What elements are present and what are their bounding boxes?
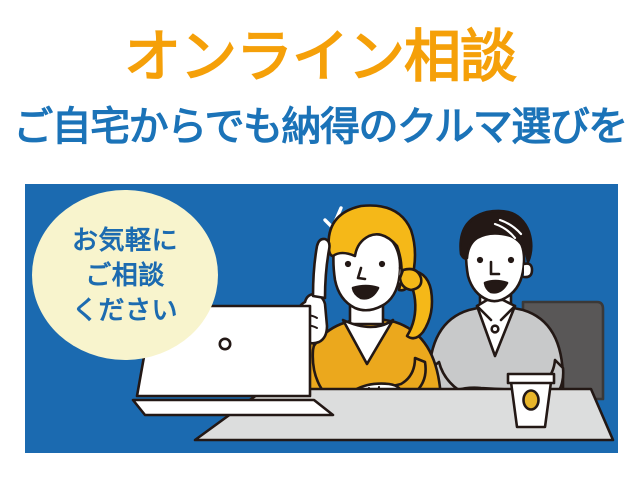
woman-figure xyxy=(296,206,441,411)
man-eye-left xyxy=(477,257,483,263)
cup-logo xyxy=(524,391,539,410)
coffee-cup xyxy=(508,374,554,427)
woman-eye-right xyxy=(379,261,385,267)
man-shirt-button xyxy=(492,326,499,333)
man-ear xyxy=(524,264,532,278)
woman-hair-tie xyxy=(400,269,421,290)
banner-root: オンライン相談 ご自宅からでも納得のクルマ選びを xyxy=(0,0,640,480)
badge-line-2: ご相談 xyxy=(85,258,165,292)
woman-index-finger xyxy=(313,239,330,298)
cup-lid xyxy=(508,374,554,383)
illustration-panel: お気軽に ご相談 ください xyxy=(25,184,618,453)
page-subtitle: ご自宅からでも納得のクルマ選びを xyxy=(0,104,640,150)
man-eye-right xyxy=(508,257,514,263)
consultation-badge[interactable]: お気軽に ご相談 ください xyxy=(32,190,218,360)
badge-line-1: お気軽に xyxy=(72,223,178,257)
laptop-logo xyxy=(220,339,230,349)
page-title: オンライン相談 xyxy=(0,26,640,88)
woman-eye-left xyxy=(345,261,351,267)
laptop-base xyxy=(133,400,333,415)
badge-line-3: ください xyxy=(72,293,178,327)
